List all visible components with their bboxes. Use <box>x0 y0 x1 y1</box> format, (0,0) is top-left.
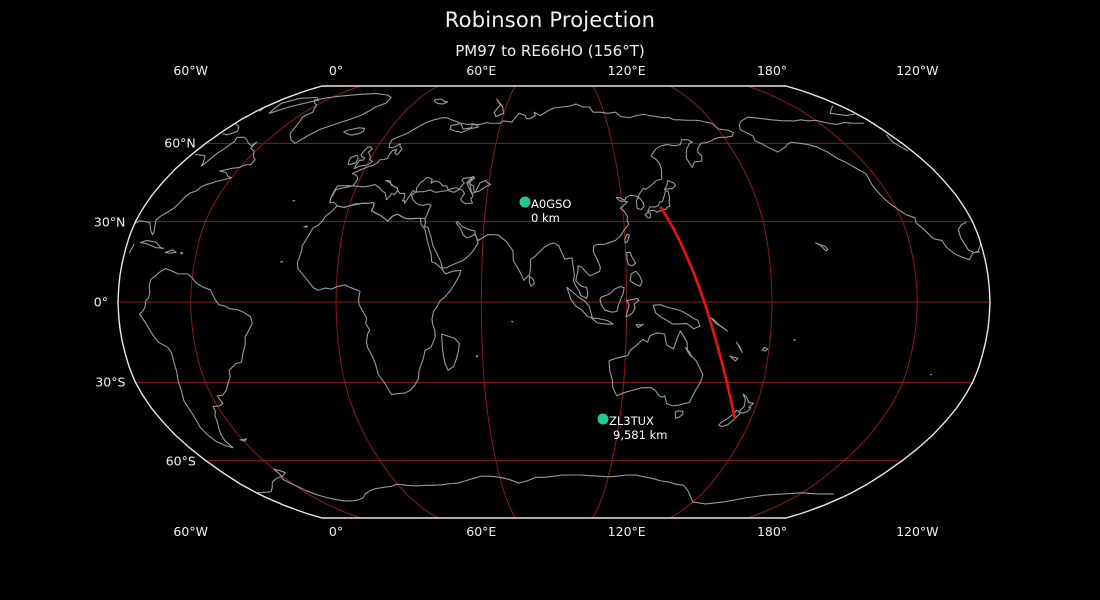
lon-tick-label: 0° <box>329 524 343 539</box>
lon-tick-label: 180° <box>757 524 787 539</box>
coastline-segment <box>130 117 981 259</box>
coastline-segment <box>794 340 795 341</box>
coastline-segment <box>736 342 742 352</box>
lat-tick-label: 60°S <box>0 453 196 468</box>
coastline-segment <box>630 271 642 286</box>
station-callsign: ZL3TUX <box>609 414 667 428</box>
map-figure: Robinson Projection PM97 to RE66HO (156°… <box>0 0 1100 600</box>
coastline-segment <box>269 98 318 114</box>
coastline-segment <box>816 243 828 251</box>
coastline-segment <box>645 212 651 218</box>
lat-tick-label: 30°S <box>0 375 125 390</box>
coastline-segment <box>685 348 691 357</box>
coastline-segment <box>626 299 639 317</box>
coastline-segment <box>627 252 636 265</box>
coastline-segment <box>330 176 491 221</box>
coastline-segment <box>648 191 670 212</box>
coastline-segment <box>653 305 700 329</box>
lon-tick-label: 60°E <box>466 524 496 539</box>
lat-tick-label: 60°N <box>0 136 196 151</box>
coastline-segment <box>625 234 630 243</box>
lon-tick-label: 120°W <box>896 63 938 78</box>
coastline-segment <box>730 356 738 361</box>
coastline-segment <box>675 411 682 418</box>
coastline-segment <box>344 128 365 135</box>
coastline-segment <box>165 250 176 253</box>
coastline-segment <box>476 356 477 357</box>
coastline-segment <box>494 99 504 116</box>
coastline-segment <box>297 202 461 394</box>
coastline-segment <box>591 318 613 324</box>
station-marker-dot[interactable] <box>598 414 609 425</box>
coastline-segment <box>512 321 513 322</box>
coastline-segment <box>290 94 391 144</box>
station-marker-dot[interactable] <box>520 197 531 208</box>
coastline-segment <box>435 99 448 104</box>
coastline-segment <box>442 334 460 370</box>
coastline-segment <box>140 269 253 448</box>
station-marker-label: ZL3TUX9,581 km <box>609 414 667 442</box>
graticule-lines <box>118 86 990 518</box>
robinson-map-canvas <box>0 0 1100 600</box>
lon-tick-label: 120°E <box>608 63 646 78</box>
coastline-segment <box>636 324 643 327</box>
coastlines <box>130 94 981 504</box>
coastline-segment <box>600 286 624 312</box>
coastline-segment <box>719 394 754 426</box>
station-callsign: A0GSO <box>531 197 571 211</box>
station-marker-label: A0GSO0 km <box>531 197 571 225</box>
lat-tick-label: 0° <box>0 295 108 310</box>
lon-tick-label: 180° <box>757 63 787 78</box>
lat-tick-label: 30°N <box>0 214 125 229</box>
coastline-segment <box>354 147 372 169</box>
lon-tick-label: 120°W <box>896 524 938 539</box>
lon-tick-label: 60°W <box>173 524 208 539</box>
coastline-segment <box>181 253 183 254</box>
coastline-segment <box>141 240 164 248</box>
coastline-segment <box>762 348 768 351</box>
coastline-segment <box>240 439 247 441</box>
lon-tick-label: 60°W <box>173 63 208 78</box>
station-distance: 0 km <box>531 211 571 225</box>
lon-tick-label: 0° <box>329 63 343 78</box>
coastline-segment <box>529 276 534 286</box>
coastline-segment <box>281 262 283 263</box>
coastline-segment <box>257 469 834 504</box>
lon-tick-label: 120°E <box>608 524 646 539</box>
coastline-segment <box>293 201 295 202</box>
station-distance: 9,581 km <box>613 428 667 442</box>
coastline-segment <box>664 181 675 190</box>
coastline-segment <box>304 226 308 227</box>
lon-tick-label: 60°E <box>466 63 496 78</box>
